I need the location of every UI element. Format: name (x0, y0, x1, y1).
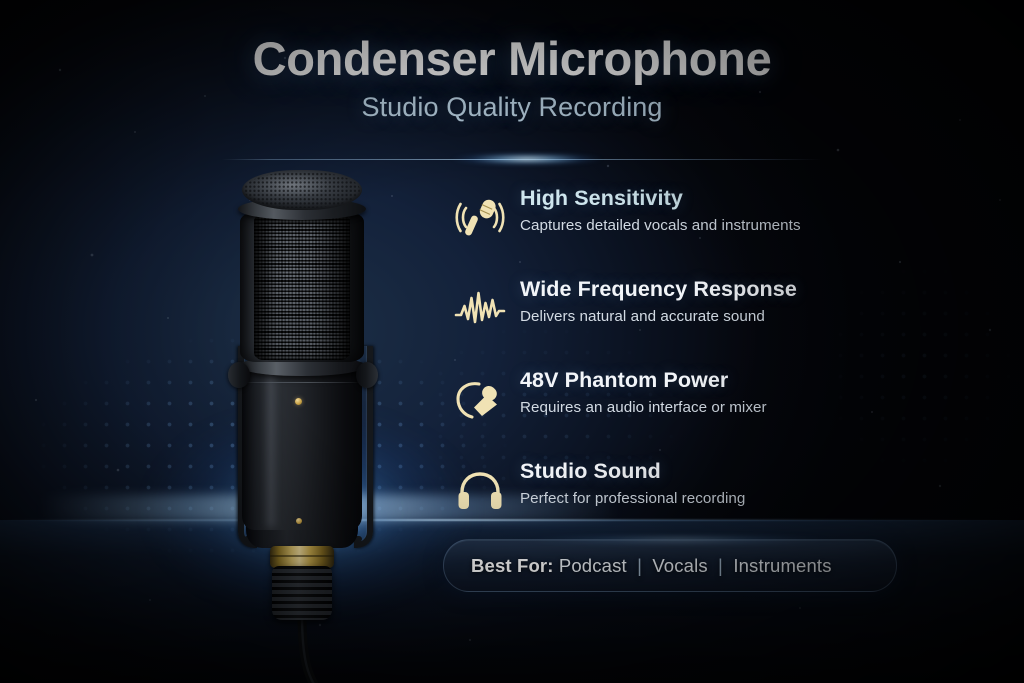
product-banner: Condenser Microphone Studio Quality Reco… (0, 0, 1024, 683)
vignette-overlay (0, 0, 1024, 683)
